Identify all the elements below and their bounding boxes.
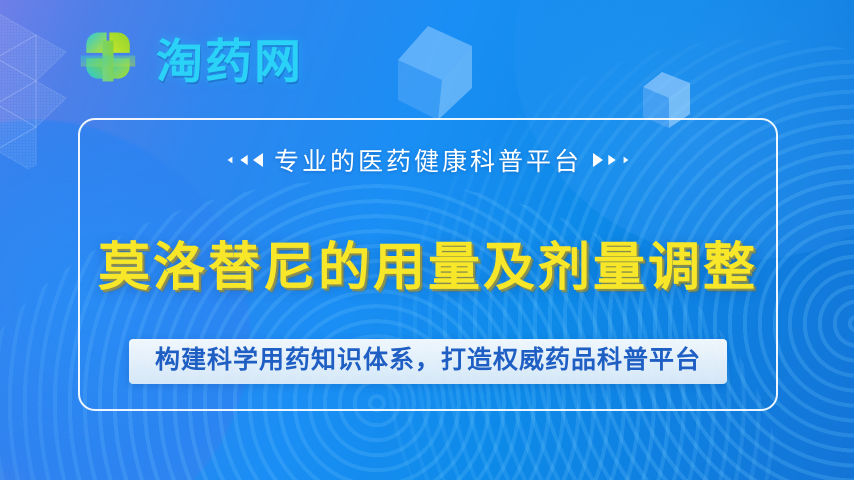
brand-name: 淘药网 — [156, 38, 303, 85]
isometric-cube-large-icon — [380, 8, 510, 133]
tagline-right-arrows — [593, 153, 631, 167]
tagline-left-arrows — [225, 153, 263, 167]
promo-banner: 淘药网 专业的医药健康科普平台 莫洛替尼的用量及剂量调整 构建科学用药知识体系，… — [0, 0, 854, 480]
triangle-left-medium-icon — [240, 155, 247, 165]
tagline-row: 专业的医药健康科普平台 — [80, 142, 776, 178]
triangle-left-large-icon — [253, 153, 263, 167]
sub-banner-text: 构建科学用药知识体系，打造权威药品科普平台 — [155, 348, 701, 373]
page-title: 莫洛替尼的用量及剂量调整 — [80, 225, 776, 300]
triangle-right-large-icon — [593, 153, 603, 167]
triangle-right-medium-icon — [608, 155, 615, 165]
tagline-text: 专业的医药健康科普平台 — [274, 142, 582, 178]
brand-logo[interactable]: 淘药网 — [74, 27, 303, 95]
content-frame: 专业的医药健康科普平台 莫洛替尼的用量及剂量调整 构建科学用药知识体系，打造权威… — [78, 118, 778, 411]
triangle-right-small-icon — [624, 157, 629, 164]
triangle-left-small-icon — [228, 157, 233, 164]
sub-banner: 构建科学用药知识体系，打造权威药品科普平台 — [129, 339, 727, 384]
medical-cross-petal-logo-icon — [74, 27, 142, 95]
